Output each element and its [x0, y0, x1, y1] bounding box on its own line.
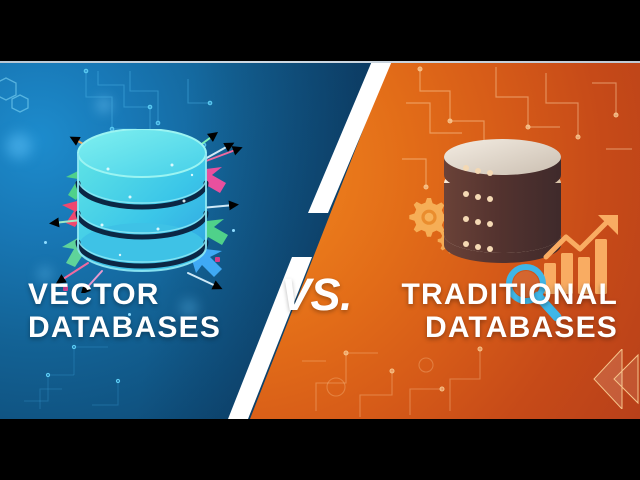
frame-seam [0, 61, 640, 63]
vector-headline: VECTOR DATABASES [28, 278, 221, 344]
letterbox-top [0, 0, 640, 61]
thumbnail-stage: VS. VECTOR DATABASES TRADITIONAL DATABAS… [0, 61, 640, 419]
letterbox-bottom [0, 419, 640, 480]
vs-label: VS. [281, 268, 377, 322]
glow-spot [96, 97, 112, 113]
video-frame: VS. VECTOR DATABASES TRADITIONAL DATABAS… [0, 0, 640, 480]
traditional-headline: TRADITIONAL DATABASES [401, 278, 618, 344]
database-cylinder-icon [72, 129, 212, 274]
glow-spot [6, 133, 32, 159]
